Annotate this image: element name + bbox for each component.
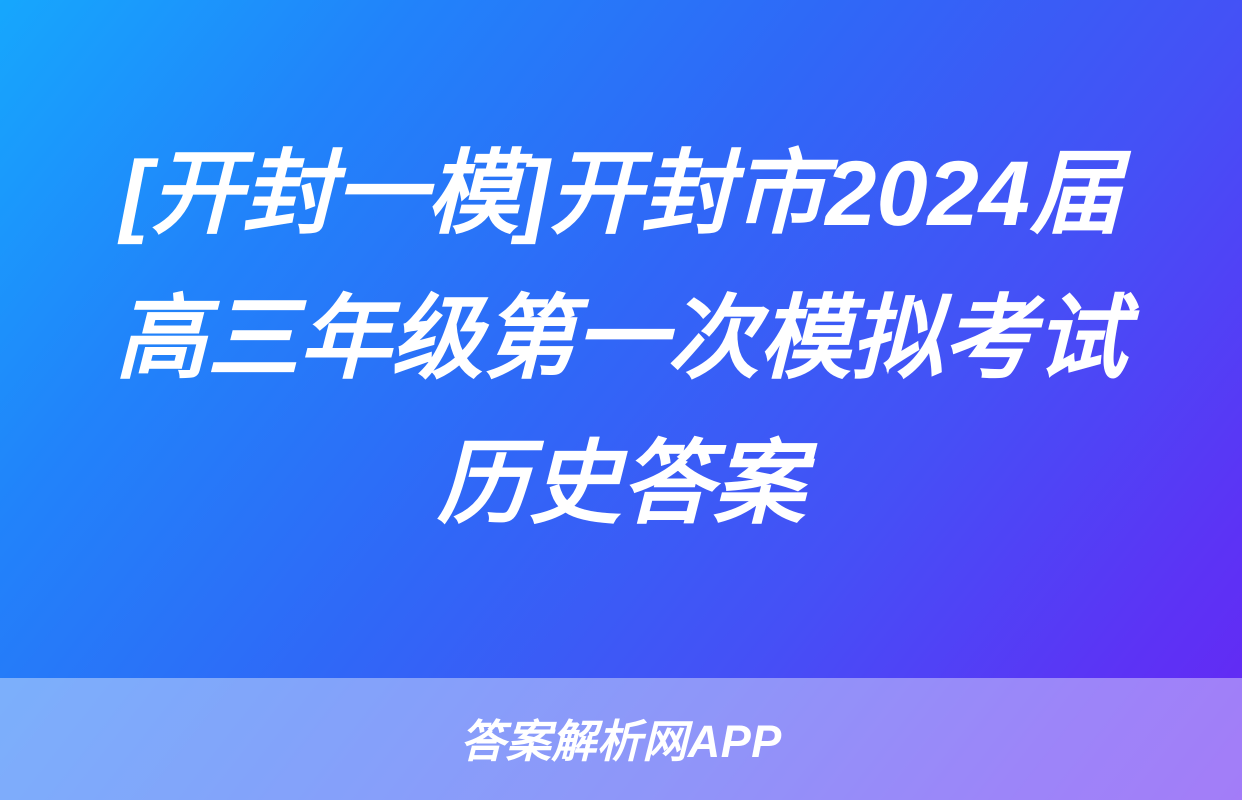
exam-title-card: [开封一模]开封市2024届高三年级第一次模拟考试历史答案 答案解析网APP (0, 0, 1242, 800)
app-watermark-label: 答案解析网APP (460, 719, 782, 764)
footer-watermark-band: 答案解析网APP (0, 678, 1242, 800)
title-block: [开封一模]开封市2024届高三年级第一次模拟考试历史答案 (0, 0, 1242, 678)
page-title: [开封一模]开封市2024届高三年级第一次模拟考试历史答案 (100, 122, 1142, 557)
